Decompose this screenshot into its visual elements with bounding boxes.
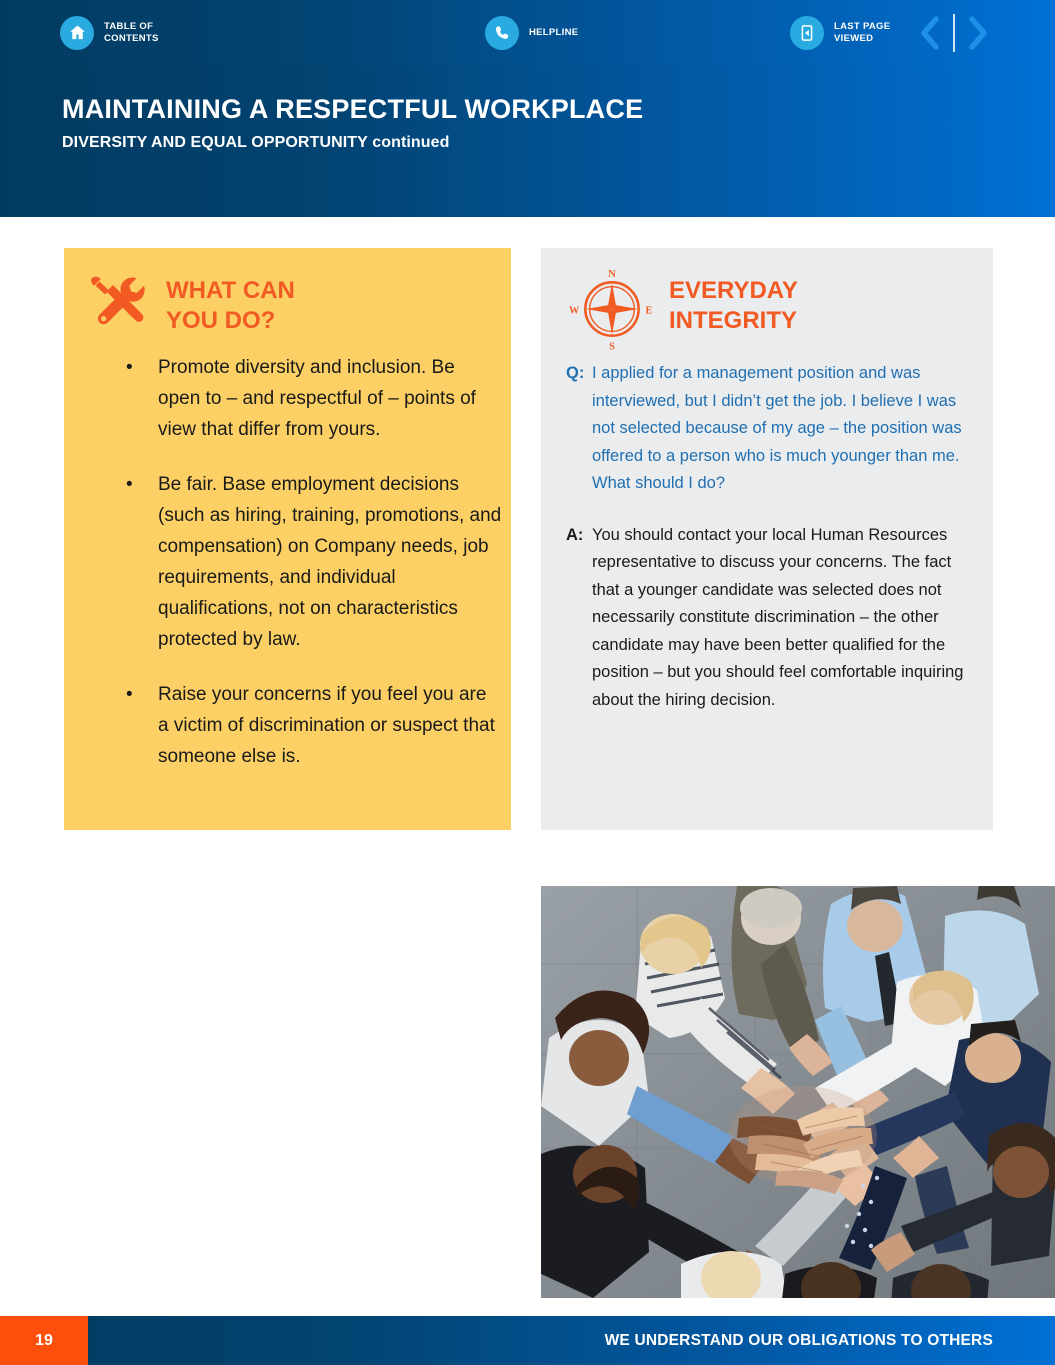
what-can-you-do-header: WHAT CAN YOU DO? [86, 272, 295, 341]
question-text: I applied for a management position and … [592, 360, 976, 498]
page-title-banner: MAINTAINING A RESPECTFUL WORKPLACE DIVER… [0, 65, 1055, 217]
bookmark-icon [790, 16, 824, 50]
top-navigation-bar: TABLE OF CONTENTS HELPLINE LAST PAGE VIE… [0, 0, 1055, 65]
svg-text:W: W [569, 305, 580, 316]
what-can-you-do-heading: WHAT CAN YOU DO? [166, 276, 295, 336]
question-answer-block: Q: I applied for a management position a… [566, 360, 976, 714]
page-subtitle: DIVERSITY AND EQUAL OPPORTUNITY continue… [62, 134, 643, 152]
what-can-you-do-panel: WHAT CAN YOU DO? • Promote diversity and… [64, 248, 511, 830]
hammer-wrench-icon [86, 272, 150, 341]
nav-item-helpline-label: HELPLINE [529, 27, 578, 39]
list-item: • Be fair. Base employment decisions (su… [126, 469, 502, 655]
nav-item-last-page-viewed[interactable]: LAST PAGE VIEWED [790, 16, 890, 50]
page-footer: 19 WE UNDERSTAND OUR OBLIGATIONS TO OTHE… [0, 1316, 1055, 1365]
svg-text:S: S [609, 341, 615, 352]
team-hands-together-photo [541, 886, 1055, 1298]
chevron-right-icon[interactable] [963, 13, 993, 53]
list-item-text: Raise your concerns if you feel you are … [158, 679, 502, 772]
svg-text:N: N [608, 269, 616, 280]
bullet-marker: • [126, 352, 158, 445]
list-item-text: Promote diversity and inclusion. Be open… [158, 352, 502, 445]
everyday-integrity-heading: EVERYDAY INTEGRITY [669, 276, 798, 336]
list-item-text: Be fair. Base employment decisions (such… [158, 469, 502, 655]
compass-icon: N S W E [569, 266, 655, 357]
page-title: MAINTAINING A RESPECTFUL WORKPLACE [62, 93, 643, 126]
question-tag: Q: [566, 360, 592, 498]
everyday-integrity-panel: N S W E EVERYDAY INTEGRITY Q: I applied … [541, 248, 993, 830]
list-item: • Raise your concerns if you feel you ar… [126, 679, 502, 772]
nav-item-table-of-contents-label: TABLE OF CONTENTS [104, 21, 159, 44]
bullet-marker: • [126, 469, 158, 655]
chevron-left-icon[interactable] [915, 13, 945, 53]
bullet-marker: • [126, 679, 158, 772]
svg-text:E: E [646, 305, 653, 316]
nav-item-last-page-viewed-label: LAST PAGE VIEWED [834, 21, 890, 44]
nav-item-helpline[interactable]: HELPLINE [485, 16, 578, 50]
everyday-integrity-header: N S W E EVERYDAY INTEGRITY [569, 266, 798, 357]
footer-tagline: WE UNDERSTAND OUR OBLIGATIONS TO OTHERS [605, 1332, 993, 1350]
home-icon [60, 16, 94, 50]
nav-item-table-of-contents[interactable]: TABLE OF CONTENTS [60, 16, 159, 50]
phone-icon [485, 16, 519, 50]
answer-row: A: You should contact your local Human R… [566, 522, 976, 715]
question-row: Q: I applied for a management position a… [566, 360, 976, 498]
what-can-you-do-bullet-list: • Promote diversity and inclusion. Be op… [126, 352, 502, 796]
answer-tag: A: [566, 522, 592, 715]
nav-divider [953, 14, 955, 52]
page-number: 19 [0, 1316, 88, 1365]
list-item: • Promote diversity and inclusion. Be op… [126, 352, 502, 445]
page-navigation-arrows [915, 13, 993, 53]
answer-text: You should contact your local Human Reso… [592, 522, 976, 715]
